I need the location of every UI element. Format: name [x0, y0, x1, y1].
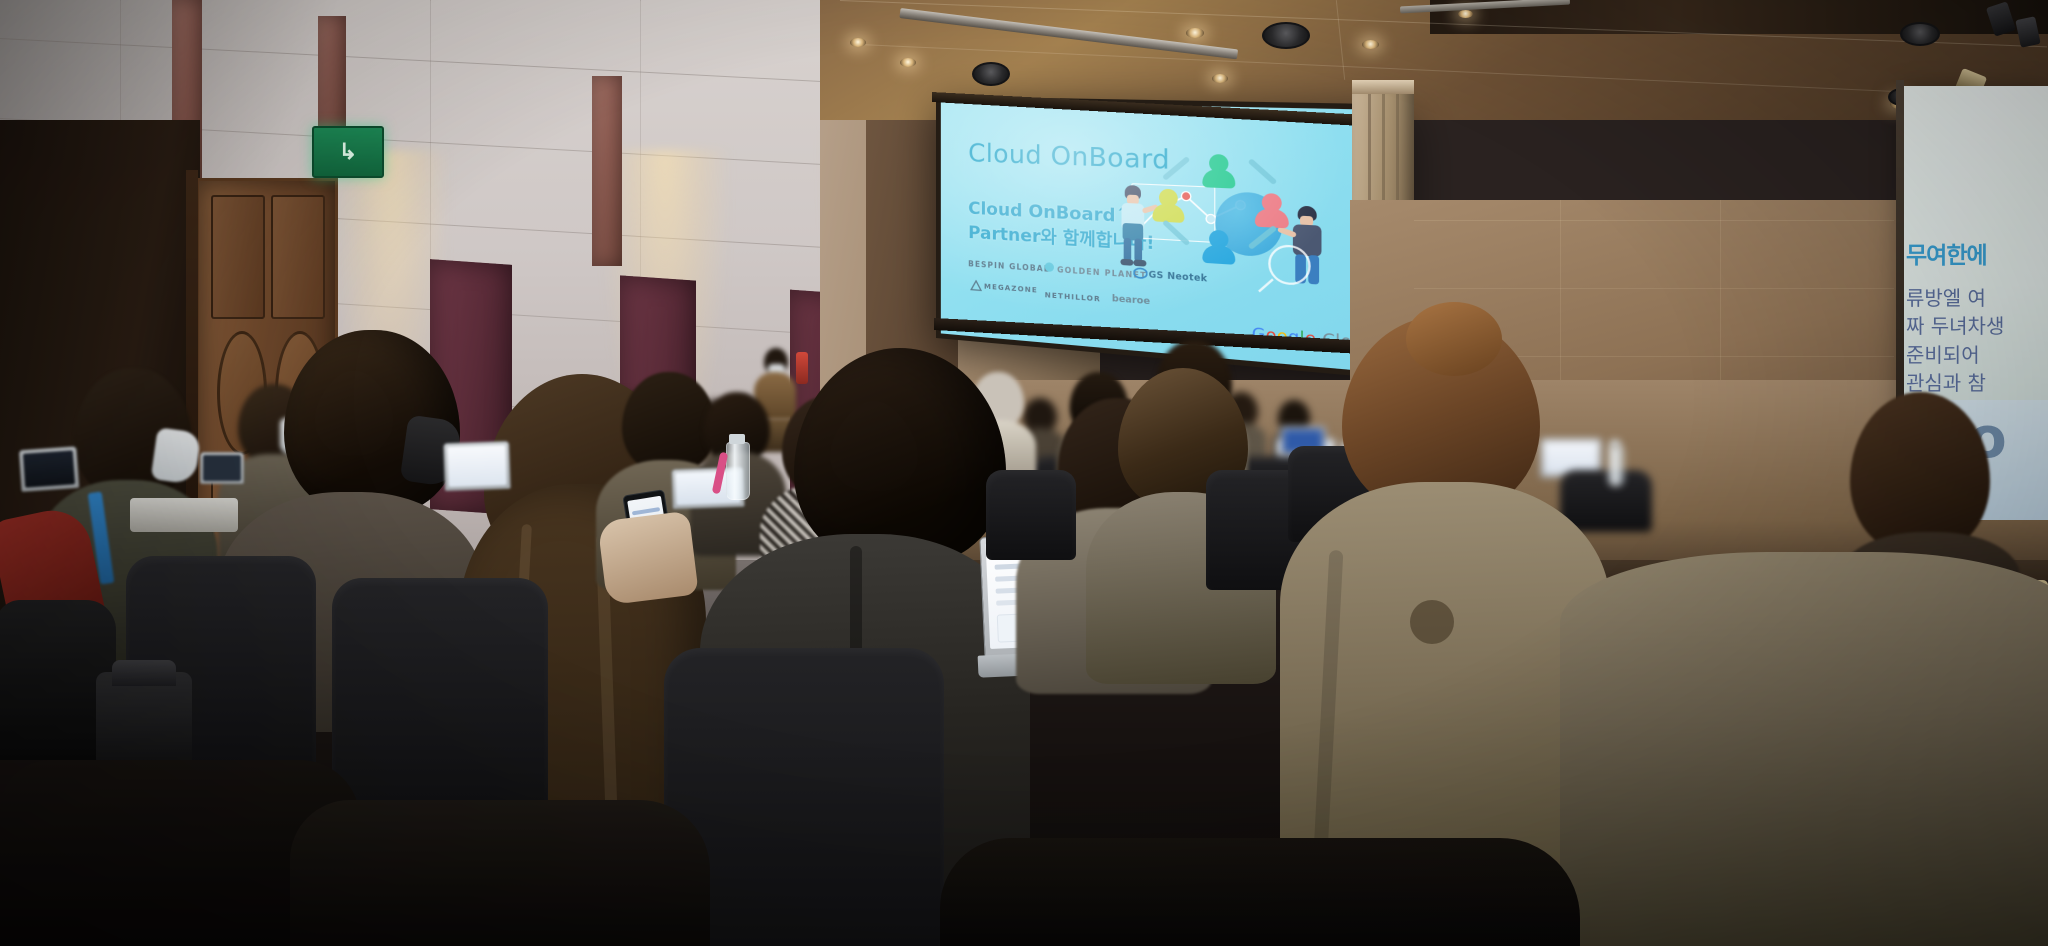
slide-person-blue: [1202, 229, 1236, 267]
ceiling-downlight: [1186, 28, 1204, 38]
tumbler: [112, 660, 176, 686]
ceiling-downlight: [850, 38, 866, 47]
ceiling-speaker: [1900, 22, 1940, 46]
wall-pilaster: [592, 76, 622, 266]
side-screen-line-1: 류방엘 여: [1906, 284, 2004, 312]
side-screen-heading: 무여한에: [1906, 236, 1987, 270]
foreground-shadow: [290, 800, 710, 946]
chair[interactable]: [332, 578, 548, 828]
ceiling-downlight: [1458, 10, 1473, 18]
wall-pilaster: [318, 16, 346, 134]
laptop[interactable]: [200, 452, 244, 484]
coat-button: [1410, 600, 1454, 644]
partner-logo-nethillor: NETHILLOR: [1045, 291, 1101, 304]
bottle-cap: [1610, 440, 1620, 448]
wall-seam: [1414, 288, 1894, 289]
chair[interactable]: [986, 470, 1076, 560]
hair-bun: [1406, 302, 1502, 376]
slide-person-green: [1202, 154, 1236, 191]
megazone-icon: [970, 279, 982, 292]
side-screen-line-2: 짜 두녀차생: [1906, 312, 2004, 340]
side-screen-body: 류방엘 여 짜 두녀차생 준비되어 관심과 참: [1906, 284, 2004, 398]
ceiling-speaker: [972, 62, 1010, 86]
photo-scene: ↳ Cloud OnBoard Cloud OnBoard´ Partner와 …: [0, 0, 2048, 946]
partner-logo-bespin: BESPIN GLOBAL: [968, 259, 1050, 274]
partner-logo-megazone: MEGAZONE: [984, 282, 1038, 294]
slide-person-yellow: [1152, 188, 1185, 225]
foreground-shadow: [940, 838, 1580, 946]
hand: [597, 511, 699, 606]
bag: [96, 672, 192, 770]
exit-arrow-icon: ↳: [339, 141, 357, 163]
side-screen-line-3: 준비되어: [1906, 341, 2004, 369]
ceiling-speaker: [1262, 22, 1310, 49]
emergency-exit-sign: ↳: [312, 126, 384, 178]
slide-magnifier-icon: [1254, 239, 1325, 299]
laptop[interactable]: [19, 446, 80, 492]
slide-arc: [1248, 158, 1278, 185]
wall-seam: [1414, 220, 1894, 221]
gs-neotek-icon: [1133, 266, 1147, 281]
slide-figure-left: [1114, 185, 1153, 274]
ceiling-downlight: [1212, 74, 1228, 83]
ceiling-downlight: [1362, 40, 1379, 49]
laptop[interactable]: [443, 441, 511, 491]
right-side-screen: 무여한에 류방엘 여 짜 두녀차생 준비되어 관심과 참: [1900, 86, 2048, 416]
column-capital: [1352, 80, 1414, 94]
audience-member: [1560, 552, 2048, 946]
paper-stack: [130, 498, 238, 532]
partner-logo-bearoe: bearoe: [1112, 294, 1150, 307]
ceiling-downlight: [900, 58, 916, 67]
water-bottle[interactable]: [1608, 446, 1624, 486]
slide-title: Cloud OnBoard: [968, 138, 1170, 175]
partner-logo-gs-neotek: GS Neotek: [1149, 270, 1208, 285]
